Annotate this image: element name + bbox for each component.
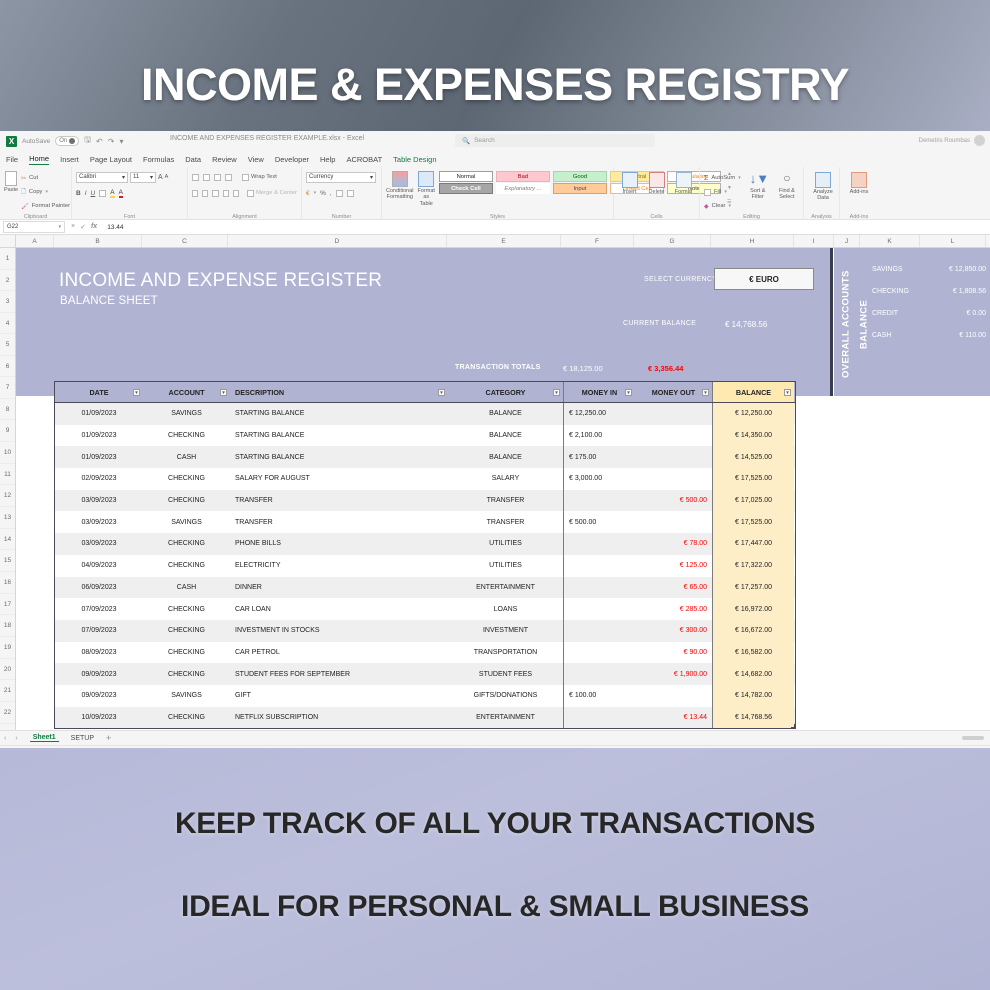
cell-account: CHECKING xyxy=(143,663,230,685)
paste-button[interactable]: Paste xyxy=(4,169,18,213)
bold-button[interactable]: B xyxy=(76,190,81,197)
cell-description: STUDENT FEES FOR SEPTEMBER xyxy=(230,663,448,685)
cell-category: ENTERTAINMENT xyxy=(448,577,563,599)
row-header-3[interactable]: 3 xyxy=(0,291,15,313)
cell-description: CAR LOAN xyxy=(230,598,448,620)
column-header-d[interactable]: D xyxy=(228,235,447,247)
conditional-formatting-button[interactable]: Conditional Formatting xyxy=(386,171,414,207)
clipboard-group-label: Clipboard xyxy=(0,214,71,220)
user-account[interactable]: Demetris Roumbas xyxy=(919,135,985,146)
cell-account: CHECKING xyxy=(143,620,230,642)
row-header-10[interactable]: 10 xyxy=(0,442,15,464)
cell-money-out: € 300.00 xyxy=(635,620,712,642)
underline-button[interactable]: U xyxy=(91,190,96,197)
font-size-select[interactable]: 11 ▾ xyxy=(130,172,156,183)
filter-dropdown-icon[interactable]: ▾ xyxy=(220,389,227,396)
header-label-money-in: MONEY IN xyxy=(582,388,617,397)
table-row[interactable]: 06/09/2023 CASH DINNER ENTERTAINMENT € 6… xyxy=(55,577,795,599)
row-header-4[interactable]: 4 xyxy=(0,313,15,335)
row-header-5[interactable]: 5 xyxy=(0,334,15,356)
column-header-g[interactable]: G xyxy=(634,235,711,247)
ribbon-group-cells: Insert Delete Format Cells xyxy=(614,167,700,220)
autosum-label: AutoSum xyxy=(711,175,735,181)
number-group-label: Number xyxy=(302,214,381,220)
format-cells-button[interactable]: Format xyxy=(672,172,695,195)
format-as-table-icon xyxy=(418,171,434,187)
cell-money-out: € 500.00 xyxy=(635,490,712,512)
column-header-b[interactable]: B xyxy=(54,235,142,247)
cell-balance: € 14,768.56 xyxy=(712,707,794,729)
cell-style-normal[interactable]: Normal xyxy=(439,171,493,182)
filter-dropdown-icon[interactable]: ▾ xyxy=(702,389,709,396)
cell-balance: € 16,972.00 xyxy=(712,598,794,620)
ribbon-tab-file[interactable]: File xyxy=(6,155,18,164)
format-label: Format xyxy=(675,189,692,195)
table-row[interactable]: 02/09/2023 CHECKING SALARY FOR AUGUST SA… xyxy=(55,468,795,490)
cell-money-in xyxy=(563,555,635,577)
row-header-12[interactable]: 12 xyxy=(0,485,15,507)
chevron-down-icon[interactable]: ▾ xyxy=(738,175,741,181)
currency-select[interactable]: € EURO xyxy=(714,268,814,290)
cancel-edit-icon[interactable]: × xyxy=(71,223,75,231)
column-header-c[interactable]: C xyxy=(142,235,228,247)
row-header-18[interactable]: 18 xyxy=(0,615,15,637)
format-as-table-button[interactable]: Format as Table xyxy=(418,171,435,207)
horizontal-scrollbar[interactable] xyxy=(962,736,984,740)
prev-sheet-icon[interactable]: ‹ xyxy=(4,735,6,742)
column-header-account[interactable]: ACCOUNT▾ xyxy=(143,382,230,402)
cell-description: INVESTMENT IN STOCKS xyxy=(230,620,448,642)
row-header-19[interactable]: 19 xyxy=(0,637,15,659)
cell-description: ELECTRICITY xyxy=(230,555,448,577)
chevron-down-icon: ▾ xyxy=(122,174,125,181)
header-label-account: ACCOUNT xyxy=(169,388,205,397)
addins-group-label: Add-ins xyxy=(840,214,878,220)
header-label-category: CATEGORY xyxy=(486,388,526,397)
align-middle-icon[interactable] xyxy=(203,174,210,181)
column-header-balance[interactable]: BALANCE▾ xyxy=(712,382,794,402)
register-title: INCOME AND EXPENSE REGISTER xyxy=(59,270,382,292)
select-all-corner[interactable] xyxy=(0,235,16,247)
cell-money-out xyxy=(635,468,712,490)
account-name: CHECKING xyxy=(872,288,932,295)
column-header-description[interactable]: DESCRIPTION▾ xyxy=(230,382,448,402)
ribbon-group-number: Currency ▾ € ▾ % , Number xyxy=(302,167,382,220)
column-header-date[interactable]: DATE▾ xyxy=(55,382,143,402)
font-group-label: Font xyxy=(72,214,187,220)
cell-account: SAVINGS xyxy=(143,511,230,533)
chevron-down-icon[interactable]: ▾ xyxy=(314,190,317,196)
current-balance-value: € 14,768.56 xyxy=(725,320,767,329)
table-row[interactable]: 03/09/2023 CHECKING PHONE BILLS UTILITIE… xyxy=(55,533,795,555)
cell-money-in: € 2,100.00 xyxy=(563,425,635,447)
ribbon-group-editing: Σ AutoSum ▾ Fill ▾ ◆ Clear ▾ xyxy=(700,167,804,220)
row-headers: 1 2 3 4 5 6 7 8 9 10 11 12 13 14 15 16 1… xyxy=(0,248,16,730)
header-label-description: DESCRIPTION xyxy=(235,388,284,397)
addins-label: Add-ins xyxy=(850,189,869,195)
row-header-8[interactable]: 8 xyxy=(0,399,15,421)
cell-style-input[interactable]: Input xyxy=(553,183,607,194)
search-placeholder: Search xyxy=(474,137,495,144)
row-header-20[interactable]: 20 xyxy=(0,659,15,681)
column-header-j[interactable]: J xyxy=(834,235,860,247)
account-name: CREDIT xyxy=(872,310,932,317)
cell-description: PHONE BILLS xyxy=(230,533,448,555)
sheet-canvas: INCOME AND EXPENSE REGISTER BALANCE SHEE… xyxy=(16,248,990,730)
table-resize-handle[interactable] xyxy=(791,724,796,729)
cell-category: TRANSFER xyxy=(448,511,563,533)
account-summary-row: CASH € 110.00 xyxy=(872,324,990,346)
row-header-16[interactable]: 16 xyxy=(0,572,15,594)
cell-category: ENTERTAINMENT xyxy=(448,707,563,729)
cell-balance: € 17,257.00 xyxy=(712,577,794,599)
format-painter-label: Format Painter xyxy=(32,203,70,209)
font-size-value: 11 xyxy=(133,174,139,180)
cell-account: CHECKING xyxy=(143,468,230,490)
confirm-edit-icon[interactable]: ✓ xyxy=(80,223,86,231)
cell-money-in xyxy=(563,490,635,512)
font-color-icon[interactable]: A xyxy=(119,189,123,198)
cell-date: 08/09/2023 xyxy=(55,642,143,664)
filter-dropdown-icon[interactable]: ▾ xyxy=(133,389,140,396)
autosum-button[interactable]: Σ AutoSum ▾ xyxy=(704,171,741,185)
row-header-15[interactable]: 15 xyxy=(0,550,15,572)
account-value: € 1,808.56 xyxy=(932,288,990,295)
chevron-down-icon[interactable]: ▾ xyxy=(724,189,727,195)
insert-function-icon[interactable]: fx xyxy=(91,223,97,231)
table-row[interactable]: 03/09/2023 CHECKING TRANSFER TRANSFER € … xyxy=(55,490,795,512)
find-select-button[interactable]: ○ Find & Select xyxy=(775,171,799,213)
column-header-f[interactable]: F xyxy=(561,235,634,247)
cell-money-out: € 78.00 xyxy=(635,533,712,555)
wrap-text-button[interactable]: Wrap Text xyxy=(242,174,277,181)
chevron-down-icon: ▾ xyxy=(370,174,373,181)
cell-description: TRANSFER xyxy=(230,511,448,533)
cell-balance: € 14,682.00 xyxy=(712,663,794,685)
cell-account: CHECKING xyxy=(143,490,230,512)
column-header-e[interactable]: E xyxy=(447,235,561,247)
ribbon-group-font: Calibri ▾ 11 ▾ A A B I U A A Font xyxy=(72,167,188,220)
accounts-summary-list: SAVINGS € 12,850.00 CHECKING € 1,808.56 … xyxy=(872,258,990,346)
customize-qat-icon[interactable]: ▾ xyxy=(119,137,123,146)
cell-account: CHECKING xyxy=(143,425,230,447)
header-label-balance: BALANCE xyxy=(736,388,771,397)
search-input[interactable]: 🔍 Search xyxy=(455,134,655,147)
ribbon-tab-developer[interactable]: Developer xyxy=(275,155,309,164)
cell-date: 01/09/2023 xyxy=(55,425,143,447)
cell-description: DINNER xyxy=(230,577,448,599)
account-value: € 0.00 xyxy=(932,310,990,317)
increase-font-size-button[interactable]: A xyxy=(158,174,163,181)
cell-description: STARTING BALANCE xyxy=(230,446,448,468)
cell-description: NETFLIX SUBSCRIPTION xyxy=(230,707,448,729)
ribbon-tab-formulas[interactable]: Formulas xyxy=(143,155,174,164)
cell-account: CASH xyxy=(143,577,230,599)
table-row[interactable]: 09/09/2023 SAVINGS GIFT GIFTS/DONATIONS … xyxy=(55,685,795,707)
cell-balance: € 17,447.00 xyxy=(712,533,794,555)
name-box[interactable]: G22 ▾ xyxy=(3,221,65,233)
save-icon[interactable]: 🖫 xyxy=(84,134,91,148)
cell-account: SAVINGS xyxy=(143,685,230,707)
paste-label: Paste xyxy=(4,187,18,193)
filter-dropdown-icon[interactable]: ▾ xyxy=(784,389,791,396)
cell-date: 03/09/2023 xyxy=(55,511,143,533)
ribbon-tab-acrobat[interactable]: ACROBAT xyxy=(346,155,382,164)
filter-dropdown-icon[interactable]: ▾ xyxy=(553,389,560,396)
undo-icon[interactable]: ↶ xyxy=(96,137,103,146)
excel-window: X AutoSave On 🖫 ↶ ↷ ▾ INCOME AND EXPENSE… xyxy=(0,131,990,748)
ribbon-tab-page-layout[interactable]: Page Layout xyxy=(90,155,132,164)
table-row[interactable]: 10/09/2023 CHECKING NETFLIX SUBSCRIPTION… xyxy=(55,707,795,729)
cell-account: CASH xyxy=(143,446,230,468)
delete-cells-button[interactable]: Delete xyxy=(645,172,668,195)
fill-label: Fill xyxy=(714,189,721,195)
overall-accounts-label: OVERALL ACCOUNTS xyxy=(838,254,854,394)
paste-icon xyxy=(5,171,17,186)
table-row[interactable]: 07/09/2023 CHECKING INVESTMENT IN STOCKS… xyxy=(55,620,795,642)
cell-money-out: € 13.44 xyxy=(635,707,712,729)
table-row[interactable]: 01/09/2023 SAVINGS STARTING BALANCE BALA… xyxy=(55,403,795,425)
chevron-down-icon: ▾ xyxy=(150,174,153,181)
delete-label: Delete xyxy=(649,189,665,195)
column-header-money-out[interactable]: MONEY OUT▾ xyxy=(635,382,712,402)
cell-description: TRANSFER xyxy=(230,490,448,512)
cell-money-out xyxy=(635,403,712,425)
cell-money-out xyxy=(635,425,712,447)
addins-button[interactable]: Add-ins xyxy=(844,172,874,195)
cell-date: 06/09/2023 xyxy=(55,577,143,599)
cell-money-out: € 65.00 xyxy=(635,577,712,599)
ribbon-tab-view[interactable]: View xyxy=(248,155,264,164)
name-box-value: G22 xyxy=(7,224,18,230)
autosave-label: AutoSave xyxy=(22,138,50,145)
cell-money-in xyxy=(563,533,635,555)
merge-center-button: Merge & Center xyxy=(247,190,297,197)
ribbon-group-analysis: Analyze Data Analysis xyxy=(804,167,840,220)
sheet-tab-setup[interactable]: SETUP xyxy=(68,735,97,742)
cell-balance: € 14,782.00 xyxy=(712,685,794,707)
format-as-table-label: Format as Table xyxy=(418,188,435,207)
cell-balance: € 14,350.00 xyxy=(712,425,794,447)
ribbon-tab-home[interactable]: Home xyxy=(29,154,49,165)
fill-button[interactable]: Fill ▾ xyxy=(704,185,741,199)
total-money-out-value: € 3,356.44 xyxy=(648,364,683,373)
account-value: € 12,850.00 xyxy=(932,266,990,273)
align-bottom-icon[interactable] xyxy=(214,174,221,181)
spreadsheet-grid: A B C D E F G H I J K L 1 2 3 4 5 6 7 8 … xyxy=(0,235,990,730)
next-sheet-icon[interactable]: › xyxy=(15,735,17,742)
row-header-21[interactable]: 21 xyxy=(0,680,15,702)
cell-category: BALANCE xyxy=(448,446,563,468)
autosave-toggle[interactable]: On xyxy=(55,136,79,146)
table-row[interactable]: 01/09/2023 CASH STARTING BALANCE BALANCE… xyxy=(55,446,795,468)
formula-bar-input[interactable]: 13.44 xyxy=(103,224,123,231)
merge-center-label: Merge & Center xyxy=(256,190,297,196)
cell-balance: € 16,582.00 xyxy=(712,642,794,664)
cell-date: 09/09/2023 xyxy=(55,685,143,707)
analyze-data-icon xyxy=(815,172,831,188)
borders-icon[interactable] xyxy=(99,190,106,197)
clear-button[interactable]: ◆ Clear ▾ xyxy=(704,199,741,213)
column-header-a[interactable]: A xyxy=(16,235,54,247)
transaction-totals-label: TRANSACTION TOTALS xyxy=(455,364,541,371)
cell-date: 01/09/2023 xyxy=(55,446,143,468)
cell-date: 10/09/2023 xyxy=(55,707,143,729)
row-header-7[interactable]: 7 xyxy=(0,377,15,399)
table-row[interactable]: 07/09/2023 CHECKING CAR LOAN LOANS € 285… xyxy=(55,598,795,620)
document-title: INCOME AND EXPENSES REGISTER EXAMPLE.xls… xyxy=(170,135,364,142)
chevron-down-icon: ▾ xyxy=(58,224,61,230)
cell-money-in xyxy=(563,598,635,620)
column-header-category[interactable]: CATEGORY▾ xyxy=(448,382,563,402)
align-center-icon[interactable] xyxy=(202,190,208,197)
cell-date: 03/09/2023 xyxy=(55,490,143,512)
cell-description: SALARY FOR AUGUST xyxy=(230,468,448,490)
cell-category: STUDENT FEES xyxy=(448,663,563,685)
align-right-icon[interactable] xyxy=(212,190,218,197)
analysis-group-label: Analysis xyxy=(804,214,839,220)
avatar xyxy=(974,135,985,146)
cell-money-out: € 285.00 xyxy=(635,598,712,620)
select-currency-label: SELECT CURRENCY xyxy=(644,276,717,283)
row-header-2[interactable]: 2 xyxy=(0,270,15,292)
user-name-label: Demetris Roumbas xyxy=(919,138,970,144)
table-row[interactable]: 01/09/2023 CHECKING STARTING BALANCE BAL… xyxy=(55,425,795,447)
filter-dropdown-icon[interactable]: ▾ xyxy=(438,389,445,396)
cell-money-in: € 3,000.00 xyxy=(563,468,635,490)
row-header-11[interactable]: 11 xyxy=(0,464,15,486)
decrease-decimal-icon[interactable] xyxy=(347,190,354,197)
total-money-in-value: € 18,125.00 xyxy=(563,364,603,373)
cell-date: 04/09/2023 xyxy=(55,555,143,577)
cell-money-out: € 1,900.00 xyxy=(635,663,712,685)
cell-style-good[interactable]: Good xyxy=(553,171,607,182)
percent-style-button[interactable]: % xyxy=(320,190,326,197)
sort-filter-button[interactable]: ↓▼ Sort & Filter xyxy=(746,171,770,213)
ribbon-tab-table-design[interactable]: Table Design xyxy=(393,155,436,164)
cut-label: Cut xyxy=(29,175,38,181)
cell-style-bad[interactable]: Bad xyxy=(496,171,550,182)
column-header-money-in[interactable]: MONEY IN▾ xyxy=(563,382,635,402)
ribbon-tab-insert[interactable]: Insert xyxy=(60,155,79,164)
cut-button[interactable]: ✂ Cut xyxy=(21,171,70,185)
cell-balance: € 17,322.00 xyxy=(712,555,794,577)
decrease-font-size-button[interactable]: A xyxy=(165,174,169,180)
orientation-icon[interactable] xyxy=(225,174,232,181)
magnifier-icon: ○ xyxy=(779,171,795,187)
copy-button[interactable]: 🗋 Copy ▾ xyxy=(21,185,70,199)
cell-category: TRANSPORTATION xyxy=(448,642,563,664)
cell-money-out xyxy=(635,446,712,468)
cell-balance: € 14,525.00 xyxy=(712,446,794,468)
chevron-down-icon[interactable]: ▾ xyxy=(45,189,48,195)
redo-icon[interactable]: ↷ xyxy=(108,137,115,146)
ribbon-tab-data[interactable]: Data xyxy=(185,155,201,164)
column-header-k[interactable]: K xyxy=(860,235,920,247)
row-header-1[interactable]: 1 xyxy=(0,248,15,270)
align-top-icon[interactable] xyxy=(192,174,199,181)
fill-color-icon[interactable]: A xyxy=(110,189,114,198)
cell-account: SAVINGS xyxy=(143,403,230,425)
promo-bottom-line-1: KEEP TRACK OF ALL YOUR TRANSACTIONS xyxy=(0,807,990,841)
cells-group-label: Cells xyxy=(614,214,699,220)
promo-top-title: INCOME & EXPENSES REGISTRY xyxy=(0,59,990,111)
analyze-data-button[interactable]: Analyze Data xyxy=(808,172,838,202)
font-name-value: Calibri xyxy=(79,174,96,180)
column-header-i[interactable]: I xyxy=(794,235,834,247)
clear-label: Clear xyxy=(712,203,726,209)
bottom-promo-banner: KEEP TRACK OF ALL YOUR TRANSACTIONS IDEA… xyxy=(0,748,990,990)
cell-balance: € 17,025.00 xyxy=(712,490,794,512)
ribbon: Paste ✂ Cut 🗋 Copy ▾ 🖌 Format Painter xyxy=(0,167,990,220)
ribbon-tab-help[interactable]: Help xyxy=(320,155,335,164)
sheet-tab-bar: ‹ › Sheet1 SETUP + xyxy=(0,730,990,745)
conditional-formatting-label: Conditional Formatting xyxy=(386,188,414,201)
filter-dropdown-icon[interactable]: ▾ xyxy=(625,389,632,396)
wrap-text-label: Wrap Text xyxy=(251,174,277,180)
format-painter-button[interactable]: 🖌 Format Painter xyxy=(21,199,70,213)
align-left-icon[interactable] xyxy=(192,190,198,197)
account-summary-row: SAVINGS € 12,850.00 xyxy=(872,258,990,280)
ribbon-group-addins: Add-ins Add-ins xyxy=(840,167,878,220)
row-header-17[interactable]: 17 xyxy=(0,594,15,616)
column-header-h[interactable]: H xyxy=(711,235,794,247)
sigma-icon: Σ xyxy=(704,175,708,182)
row-header-6[interactable]: 6 xyxy=(0,356,15,378)
column-header-l[interactable]: L xyxy=(920,235,986,247)
table-row[interactable]: 04/09/2023 CHECKING ELECTRICITY UTILITIE… xyxy=(55,555,795,577)
cell-style-check-cell[interactable]: Check Cell xyxy=(439,183,493,194)
cell-money-out xyxy=(635,685,712,707)
row-header-14[interactable]: 14 xyxy=(0,529,15,551)
comma-style-button[interactable]: , xyxy=(330,190,332,197)
insert-cells-button[interactable]: Insert xyxy=(618,172,641,195)
autosave-state-label: On xyxy=(59,138,67,144)
account-name: CASH xyxy=(872,332,932,339)
add-sheet-button[interactable]: + xyxy=(106,733,111,743)
increase-decimal-icon[interactable] xyxy=(336,190,343,197)
cell-category: UTILITIES xyxy=(448,533,563,555)
sheet-tab-sheet1[interactable]: Sheet1 xyxy=(30,734,59,742)
header-label-date: DATE xyxy=(89,388,108,397)
account-summary-row: CREDIT € 0.00 xyxy=(872,302,990,324)
table-row[interactable]: 03/09/2023 SAVINGS TRANSFER TRANSFER € 5… xyxy=(55,511,795,533)
accounting-format-button[interactable]: € xyxy=(306,190,310,197)
number-format-select[interactable]: Currency ▾ xyxy=(306,172,376,183)
ribbon-group-styles: Conditional Formatting Format as Table N… xyxy=(382,167,614,220)
row-header-9[interactable]: 9 xyxy=(0,420,15,442)
table-row[interactable]: 09/09/2023 CHECKING STUDENT FEES FOR SEP… xyxy=(55,663,795,685)
ribbon-tab-strip: File Home Insert Page Layout Formulas Da… xyxy=(0,151,990,167)
cell-category: UTILITIES xyxy=(448,555,563,577)
increase-indent-icon[interactable] xyxy=(233,190,239,197)
current-balance-label: CURRENT BALANCE xyxy=(623,320,696,327)
ribbon-tab-review[interactable]: Review xyxy=(212,155,237,164)
font-name-select[interactable]: Calibri ▾ xyxy=(76,172,128,183)
row-header-13[interactable]: 13 xyxy=(0,507,15,529)
italic-button[interactable]: I xyxy=(85,190,87,197)
addins-icon xyxy=(851,172,867,188)
band-divider xyxy=(830,248,833,396)
fill-icon xyxy=(704,189,711,196)
column-headers: A B C D E F G H I J K L xyxy=(0,235,990,248)
row-header-22[interactable]: 22 xyxy=(0,702,15,724)
find-select-label: Find & Select xyxy=(775,188,799,201)
decrease-indent-icon[interactable] xyxy=(223,190,229,197)
cell-style-explanatory[interactable]: Explanatory ... xyxy=(496,183,550,194)
table-row[interactable]: 08/09/2023 CHECKING CAR PETROL TRANSPORT… xyxy=(55,642,795,664)
chevron-down-icon[interactable]: ▾ xyxy=(728,203,731,209)
